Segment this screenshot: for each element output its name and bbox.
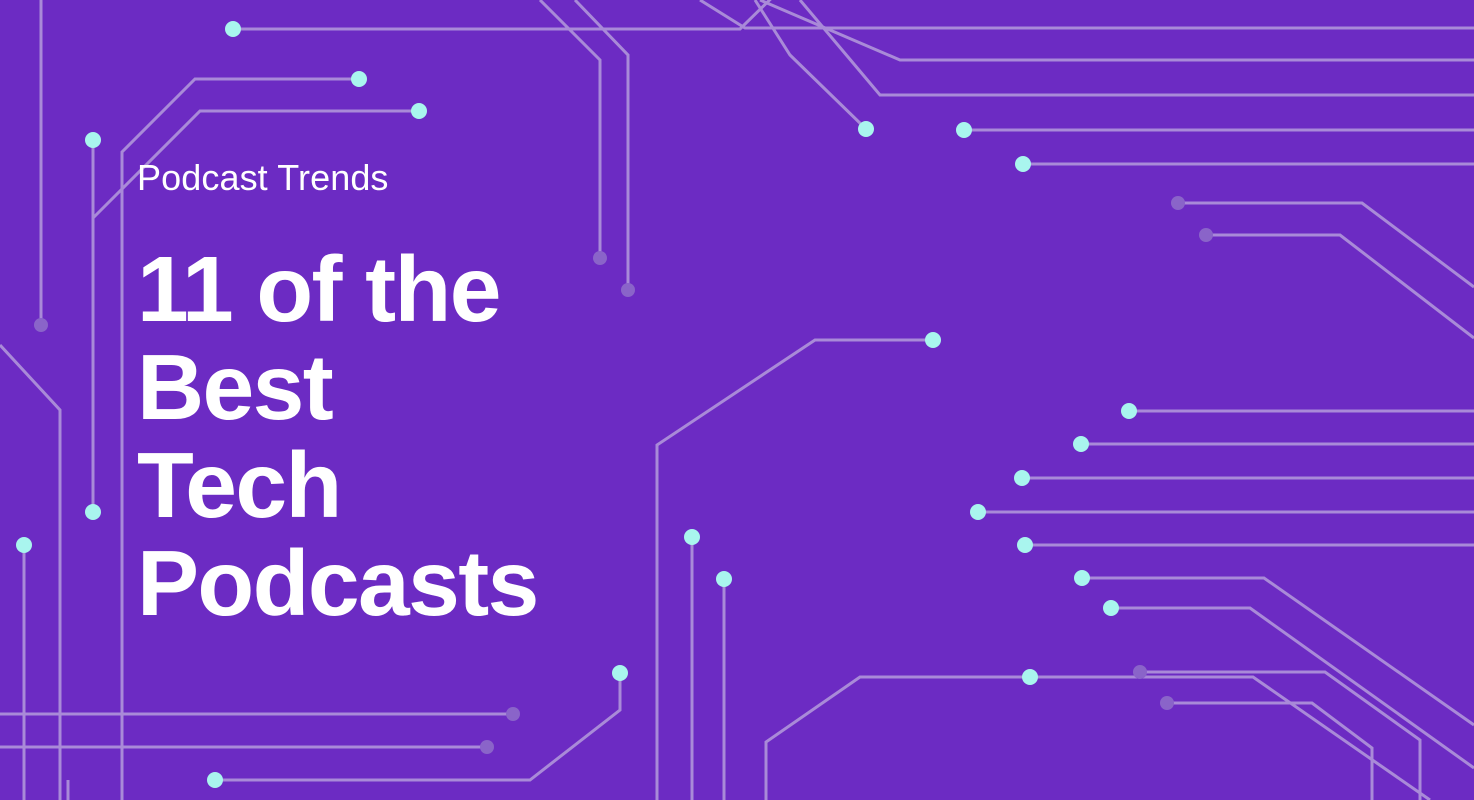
headline-line-3: Tech bbox=[137, 436, 697, 534]
node-bright-6 bbox=[956, 122, 972, 138]
headline-line-1: 11 of the bbox=[137, 240, 697, 338]
node-bright-14 bbox=[970, 504, 986, 520]
node-dim-1 bbox=[34, 318, 48, 332]
node-dim-7 bbox=[480, 740, 494, 754]
node-dim-4 bbox=[1171, 196, 1185, 210]
hero-banner: Podcast Trends 11 of the Best Tech Podca… bbox=[0, 0, 1474, 800]
node-bright-12 bbox=[1073, 436, 1089, 452]
node-bright-16 bbox=[1074, 570, 1090, 586]
headline-line-2: Best bbox=[137, 338, 697, 436]
node-bright-7 bbox=[1015, 156, 1031, 172]
node-bright-8 bbox=[85, 504, 101, 520]
node-bright-2 bbox=[351, 71, 367, 87]
headline-line-4: Podcasts bbox=[137, 534, 697, 632]
node-dim-8 bbox=[1133, 665, 1147, 679]
node-bright-5 bbox=[858, 121, 874, 137]
node-dim-9 bbox=[1160, 696, 1174, 710]
node-bright-22 bbox=[207, 772, 223, 788]
node-bright-11 bbox=[1121, 403, 1137, 419]
node-bright-21 bbox=[612, 665, 628, 681]
page-title: 11 of the Best Tech Podcasts bbox=[137, 240, 697, 632]
node-dim-6 bbox=[506, 707, 520, 721]
node-bright-20 bbox=[716, 571, 732, 587]
node-bright-4 bbox=[85, 132, 101, 148]
node-dim-5 bbox=[1199, 228, 1213, 242]
node-bright-9 bbox=[16, 537, 32, 553]
node-bright-1 bbox=[225, 21, 241, 37]
hero-text-block: Podcast Trends 11 of the Best Tech Podca… bbox=[137, 160, 697, 632]
node-bright-3 bbox=[411, 103, 427, 119]
node-bright-15 bbox=[1017, 537, 1033, 553]
node-bright-17 bbox=[1103, 600, 1119, 616]
node-bright-18 bbox=[1022, 669, 1038, 685]
eyebrow-label: Podcast Trends bbox=[137, 160, 697, 196]
node-bright-13 bbox=[1014, 470, 1030, 486]
node-bright-10 bbox=[925, 332, 941, 348]
